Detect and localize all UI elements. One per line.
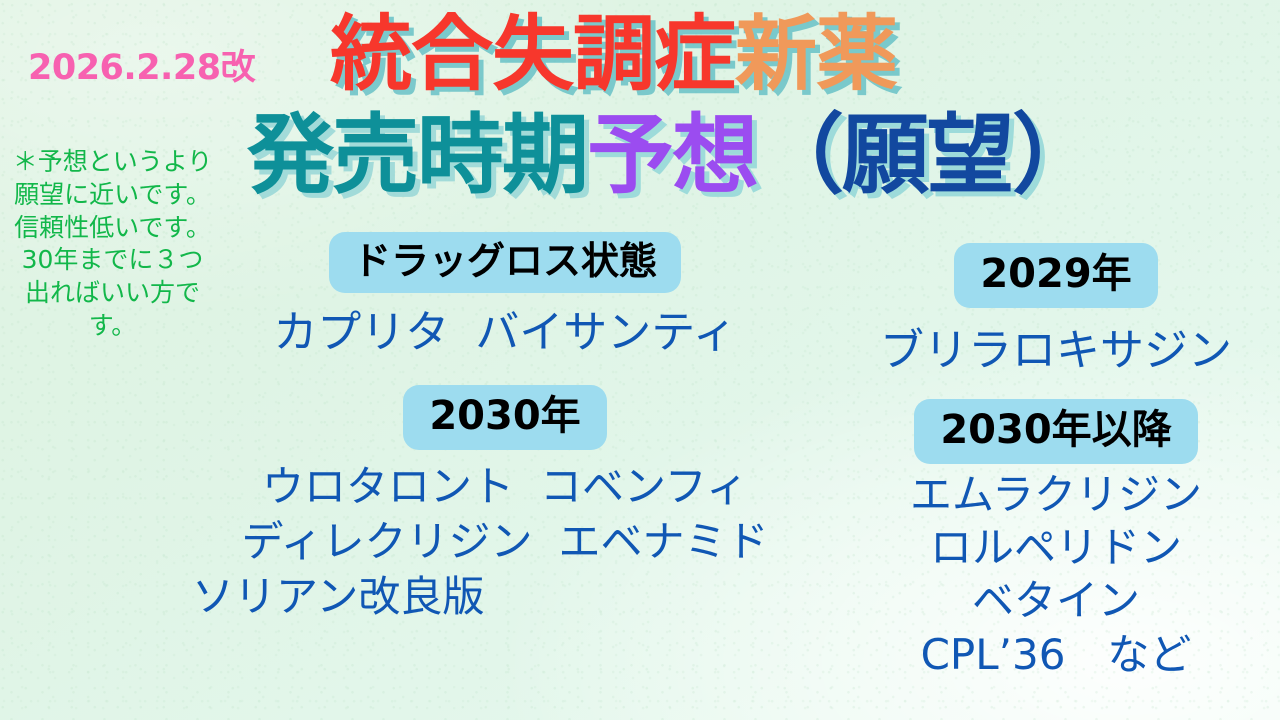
drug-name: ウロタロント	[262, 462, 514, 511]
drug-name: ブリラロキサジン	[880, 325, 1232, 376]
title-newdrug-text: 新薬	[735, 7, 897, 102]
drug-name: ソリアン改良版	[192, 572, 484, 621]
drug-row: ブリラロキサジン	[832, 327, 1280, 375]
section-year-2030-plus: 2030年以降 エムラクリジン ロルペリドン ベタイン CPL’36 など	[832, 399, 1280, 677]
section-year-2030: 2030年 ウロタロントコベンフィ ディレクリジンエベナミド ソリアン改良版	[160, 385, 840, 620]
drug-row: カプリタバイサンティ	[170, 309, 840, 357]
drug-name: ベタイン	[972, 576, 1140, 625]
drug-name: エベナミド	[559, 517, 769, 566]
section-year-2029: 2029年 ブリラロキサジン	[832, 243, 1280, 375]
drug-name: コベンフィ	[540, 462, 748, 511]
right-column: 2029年 ブリラロキサジン 2030年以降 エムラクリジン ロルペリドン ベタ…	[832, 243, 1280, 677]
drug-row: ロルペリドン	[832, 525, 1280, 570]
drug-row: CPL’36 など	[832, 632, 1280, 677]
drug-name: バイサンティ	[475, 307, 736, 358]
section-drug-loss: ドラッグロス状態 カプリタバイサンティ	[160, 232, 840, 357]
page-title-line-2: 発売時期予想（願望）	[247, 112, 1097, 199]
drug-row: ソリアン改良版	[170, 574, 840, 619]
drug-row: エムラクリジン	[832, 472, 1280, 517]
drug-name: CPL’36 など	[921, 630, 1192, 679]
drug-name: ロルペリドン	[930, 523, 1182, 572]
page-title-line-1: 統合失調症新薬	[330, 14, 897, 96]
slide-canvas: 2026.2.28改 統合失調症新薬 発売時期予想（願望） ＊予想というより願望…	[0, 0, 1280, 720]
drug-row: ベタイン	[832, 578, 1280, 623]
title-forecast-text: 予想	[587, 104, 757, 206]
revision-date-label: 2026.2.28改	[28, 39, 255, 90]
left-column: ドラッグロス状態 カプリタバイサンティ 2030年 ウロタロントコベンフィ ディ…	[160, 232, 840, 620]
drug-row: ディレクリジンエベナミド	[170, 519, 840, 564]
drug-row: ウロタロントコベンフィ	[170, 464, 840, 509]
drug-name: ディレクリジン	[241, 517, 532, 566]
drug-name: エムラクリジン	[910, 470, 1202, 519]
section-heading-drug-loss: ドラッグロス状態	[329, 232, 681, 293]
section-heading-year-2029: 2029年	[954, 243, 1157, 308]
title-wish-text: （願望）	[757, 104, 1097, 206]
drug-name: カプリタ	[273, 307, 449, 358]
title-launchtiming-text: 発売時期	[247, 104, 587, 206]
section-heading-year-2030-plus: 2030年以降	[914, 399, 1197, 464]
section-heading-year-2030: 2030年	[403, 385, 606, 450]
title-disease-text: 統合失調症	[330, 7, 735, 102]
